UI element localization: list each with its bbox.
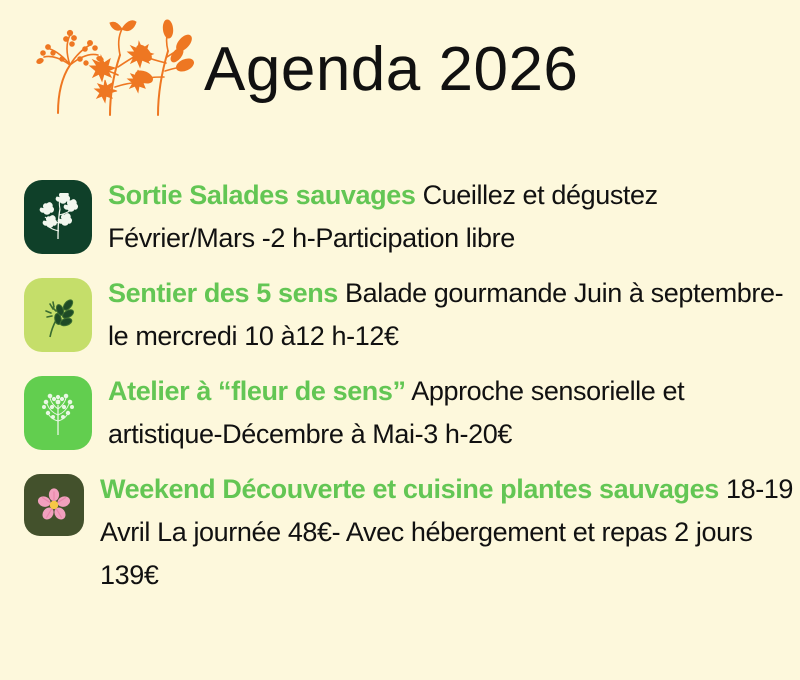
olive-branch-icon xyxy=(38,291,78,339)
item-badge xyxy=(24,180,92,254)
leafy-sprig-icon xyxy=(38,193,78,241)
agenda-item-atelier-fleur-de-sens[interactable]: Atelier à “fleur de sens” Approche senso… xyxy=(0,368,800,456)
item-text: Sortie Salades sauvages Cueillez et dégu… xyxy=(108,172,800,260)
item-heading: Weekend Découverte et cuisine plantes sa… xyxy=(100,474,719,504)
item-heading: Sentier des 5 sens xyxy=(108,278,338,308)
item-badge xyxy=(24,278,92,352)
flowering-sprig-icon xyxy=(38,389,78,437)
item-text: Atelier à “fleur de sens” Approche senso… xyxy=(108,368,800,456)
page-title: Agenda 2026 xyxy=(204,39,578,101)
agenda-item-sortie-salades-sauvages[interactable]: Sortie Salades sauvages Cueillez et dégu… xyxy=(0,172,800,260)
page-header: Agenda 2026 xyxy=(0,0,800,140)
item-text: Weekend Découverte et cuisine plantes sa… xyxy=(100,466,800,597)
item-heading: Sortie Salades sauvages xyxy=(108,180,415,210)
pink-blossom-icon xyxy=(37,488,71,522)
agenda-item-weekend-decouverte[interactable]: Weekend Découverte et cuisine plantes sa… xyxy=(0,466,800,597)
item-text: Sentier des 5 sens Balade gourmande Juin… xyxy=(108,270,800,358)
item-badge xyxy=(24,376,92,450)
item-badge xyxy=(24,474,84,536)
botanical-sprigs-illustration xyxy=(18,15,198,125)
item-heading: Atelier à “fleur de sens” xyxy=(108,376,406,406)
agenda-item-sentier-des-5-sens[interactable]: Sentier des 5 sens Balade gourmande Juin… xyxy=(0,270,800,358)
agenda-list: Sortie Salades sauvages Cueillez et dégu… xyxy=(0,172,800,607)
